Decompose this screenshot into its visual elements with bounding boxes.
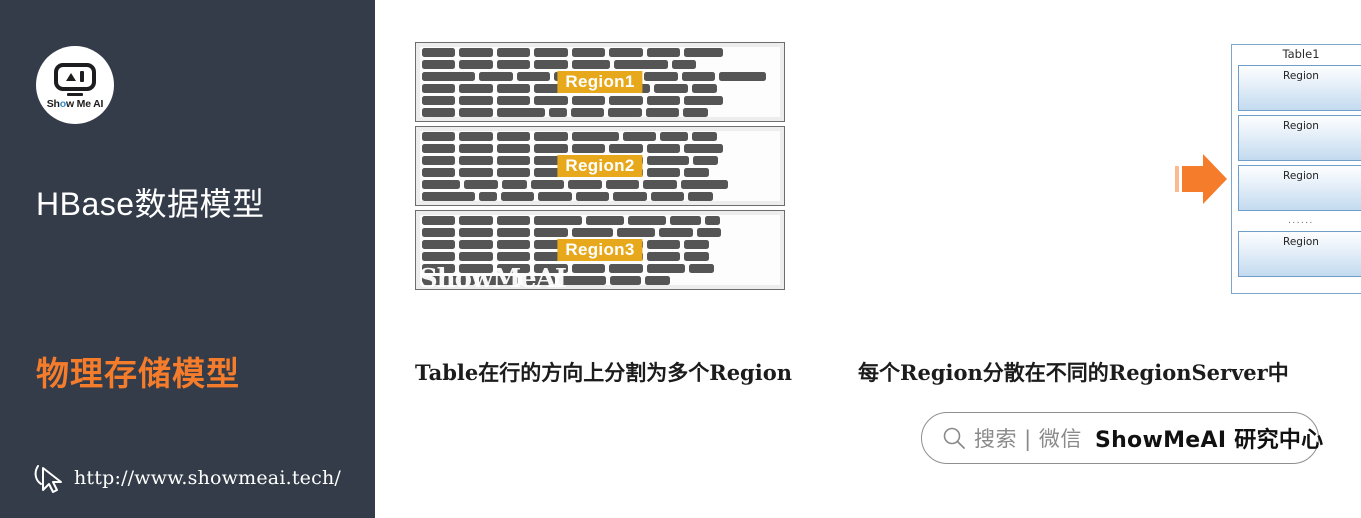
row-cell-bar [692, 84, 717, 93]
row-cell-bar [422, 240, 455, 249]
row-cell-bar [692, 132, 717, 141]
logo-wordmark: Show Me AI [47, 98, 104, 110]
region-row [422, 180, 778, 189]
region-box[interactable]: Region [1238, 65, 1361, 111]
row-cell-bar [497, 264, 530, 273]
row-cell-bar [459, 168, 492, 177]
row-cell-bar [681, 180, 728, 189]
row-cell-bar [497, 84, 530, 93]
row-cell-bar [422, 48, 455, 57]
row-cell-bar [497, 132, 530, 141]
row-cell-bar [479, 72, 512, 81]
row-cell-bar [531, 180, 564, 189]
row-cell-bar [654, 84, 687, 93]
row-cell-bar [422, 60, 455, 69]
show-me-ai-logo[interactable]: Show Me AI [36, 46, 114, 124]
row-cell-bar [684, 252, 709, 261]
region-row [422, 108, 778, 117]
row-cell-bar [576, 192, 609, 201]
row-cell-bar [497, 240, 530, 249]
row-cell-bar [659, 228, 692, 237]
row-cell-bar [534, 132, 567, 141]
region-ellipsis: ...... [1232, 215, 1361, 227]
search-icon [942, 426, 967, 451]
row-cell-bar [647, 264, 685, 273]
row-cell-bar [459, 240, 492, 249]
row-cell-bar [422, 264, 455, 273]
row-cell-bar [568, 180, 601, 189]
row-cell-bar [422, 72, 475, 81]
row-cell-bar [617, 228, 655, 237]
region-row [422, 144, 778, 153]
region-row [422, 48, 778, 57]
row-cell-bar [517, 72, 550, 81]
row-cell-bar [660, 132, 687, 141]
region-row [422, 60, 778, 69]
row-cell-bar [459, 156, 492, 165]
caption-right: 每个Region分散在不同的RegionServer中 [858, 357, 1289, 387]
region-row [422, 132, 778, 141]
row-cell-bar [608, 108, 641, 117]
site-url-row[interactable]: http://www.showmeai.tech/ [34, 462, 341, 494]
row-cell-bar [479, 276, 517, 285]
row-cell-bar [609, 144, 642, 153]
row-cell-bar [534, 264, 567, 273]
row-cell-bar [647, 48, 680, 57]
page-title: HBase数据模型 [36, 179, 265, 225]
row-cell-bar [479, 192, 496, 201]
row-cell-bar [534, 216, 581, 225]
robot-face-icon [54, 63, 96, 91]
region-row [422, 264, 778, 273]
sidebar: Show Me AI HBase数据模型 物理存储模型 http://www.s… [0, 0, 375, 518]
row-cell-bar [422, 144, 455, 153]
row-cell-bar [645, 276, 670, 285]
row-cell-bar [705, 216, 720, 225]
region-row [422, 96, 778, 105]
wechat-search-badge[interactable]: 搜索 | 微信 ShowMeAI 研究中心 [921, 412, 1319, 464]
row-cell-bar [697, 228, 722, 237]
row-cell-bar [689, 264, 714, 273]
row-cell-bar [459, 144, 492, 153]
row-cell-bar [497, 252, 530, 261]
row-cell-bar [422, 180, 460, 189]
row-cell-bar [651, 192, 684, 201]
row-cell-bar [644, 72, 677, 81]
row-cell-bar [586, 216, 624, 225]
row-cell-bar [572, 144, 605, 153]
row-cell-bar [501, 192, 534, 201]
row-cell-bar [459, 96, 492, 105]
row-cell-bar [497, 156, 530, 165]
region-block[interactable]: Region1 [415, 42, 785, 122]
row-cell-bar [549, 108, 566, 117]
row-cell-bar [572, 228, 613, 237]
row-cell-bar [422, 84, 455, 93]
row-cell-bar [464, 180, 497, 189]
caption-left: Table在行的方向上分割为多个Region [415, 357, 792, 387]
row-cell-bar [497, 228, 530, 237]
table-1-title: Table1 [1232, 47, 1361, 61]
row-cell-bar [609, 264, 642, 273]
row-cell-bar [684, 240, 709, 249]
row-cell-bar [571, 108, 604, 117]
row-cell-bar [422, 108, 455, 117]
row-cell-bar [559, 276, 606, 285]
row-cell-bar [684, 96, 722, 105]
row-cell-bar [459, 252, 492, 261]
search-brand-text: ShowMeAI 研究中心 [1095, 422, 1324, 454]
row-cell-bar [684, 144, 722, 153]
caret-up-icon [66, 73, 76, 81]
row-cell-bar [459, 264, 492, 273]
row-cell-bar [672, 60, 697, 69]
row-cell-bar [422, 276, 475, 285]
row-cell-bar [422, 96, 455, 105]
row-cell-bar [643, 180, 676, 189]
row-cell-bar [647, 156, 689, 165]
row-cell-bar [422, 192, 475, 201]
row-cell-bar [459, 228, 492, 237]
table-column-1: Table1 Region Region Region ...... Regio… [1231, 44, 1361, 294]
region-row [422, 276, 778, 285]
row-cell-bar [422, 216, 455, 225]
row-cell-bar [422, 228, 455, 237]
region-block[interactable]: Region3 [415, 210, 785, 290]
row-cell-bar [459, 108, 492, 117]
row-cell-bar [606, 180, 639, 189]
row-cell-bar [670, 216, 701, 225]
row-cell-bar [534, 96, 567, 105]
row-cell-bar [684, 168, 709, 177]
page-subtitle: 物理存储模型 [36, 347, 240, 395]
row-cell-bar [572, 60, 610, 69]
row-cell-bar [613, 192, 646, 201]
region-label: Region1 [557, 71, 642, 93]
cursor-arrow-icon [34, 462, 64, 494]
row-cell-bar [497, 216, 530, 225]
row-cell-bar [572, 264, 605, 273]
row-cell-bar [497, 108, 545, 117]
region-row [422, 216, 778, 225]
region-label: Region2 [557, 155, 642, 177]
row-cell-bar [459, 48, 492, 57]
region-row [422, 192, 778, 201]
row-cell-bar [459, 216, 492, 225]
logo-text-after: w Me AI [66, 98, 103, 110]
row-cell-bar [646, 108, 679, 117]
row-cell-bar [497, 48, 530, 57]
row-cell-bar [647, 168, 680, 177]
bar-icon [80, 71, 84, 82]
row-cell-bar [497, 144, 530, 153]
row-cell-bar [497, 60, 530, 69]
robot-mouth-icon [67, 93, 83, 96]
row-cell-bar [623, 132, 656, 141]
site-url[interactable]: http://www.showmeai.tech/ [74, 467, 341, 489]
row-cell-bar [647, 240, 680, 249]
row-cell-bar [497, 96, 530, 105]
logo-text-before: Sh [47, 98, 60, 110]
row-cell-bar [459, 60, 492, 69]
row-cell-bar [647, 96, 680, 105]
row-cell-bar [614, 60, 667, 69]
table-split-into-regions-diagram: Region1Region2Region3ShowMeAI [415, 42, 785, 292]
row-cell-bar [497, 168, 530, 177]
slide-root: Show Me AI HBase数据模型 物理存储模型 http://www.s… [0, 0, 1361, 518]
region-box[interactable]: Region [1238, 115, 1361, 161]
row-cell-bar [534, 60, 567, 69]
row-cell-bar [647, 252, 680, 261]
row-cell-bar [688, 192, 713, 201]
row-cell-bar [682, 72, 715, 81]
main-content: Region1Region2Region3ShowMeAI Table1 Reg… [375, 0, 1361, 518]
row-cell-bar [459, 84, 492, 93]
row-cell-bar [572, 132, 619, 141]
row-cell-bar [534, 144, 567, 153]
row-cell-bar [459, 132, 492, 141]
row-cell-bar [422, 132, 455, 141]
orange-right-arrow-icon [1173, 148, 1229, 210]
row-cell-bar [538, 192, 571, 201]
region-box[interactable]: Region [1238, 231, 1361, 277]
row-cell-bar [684, 48, 722, 57]
regions-distributed-diagram: Table1 Region Region Region ...... Regio… [1227, 40, 1361, 298]
row-cell-bar [609, 48, 642, 57]
row-cell-bar [534, 48, 567, 57]
region-row [422, 228, 778, 237]
row-cell-bar [534, 228, 567, 237]
row-cell-bar [422, 156, 455, 165]
row-cell-bar [693, 156, 718, 165]
row-cell-bar [719, 72, 766, 81]
search-placeholder-text: 搜索 | 微信 [974, 423, 1082, 453]
region-label: Region3 [557, 239, 642, 261]
row-cell-bar [522, 276, 555, 285]
row-cell-bar [683, 108, 708, 117]
row-cell-bar [628, 216, 666, 225]
row-cell-bar [610, 276, 641, 285]
row-cell-bar [572, 48, 605, 57]
row-cell-bar [422, 168, 455, 177]
region-box[interactable]: Region [1238, 165, 1361, 211]
region-block[interactable]: Region2 [415, 126, 785, 206]
row-cell-bar [502, 180, 527, 189]
row-cell-bar [609, 96, 642, 105]
row-cell-bar [647, 144, 680, 153]
row-cell-bar [422, 252, 455, 261]
row-cell-bar [572, 96, 605, 105]
